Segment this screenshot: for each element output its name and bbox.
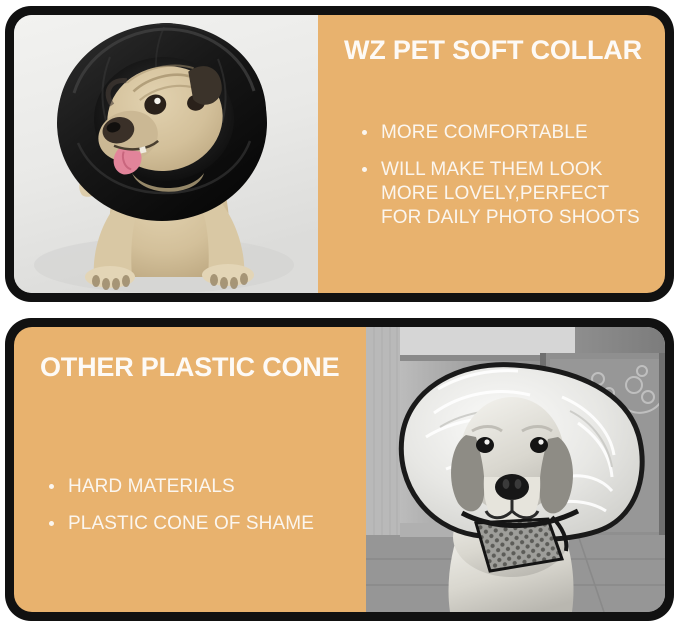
photo-pug-soft-collar bbox=[14, 15, 318, 293]
list-item: MORE COMFORTABLE bbox=[362, 121, 662, 145]
list-item-label: MORE COMFORTABLE bbox=[381, 121, 662, 145]
comparison-infographic: WZ PET SOFT COLLAR MORE COMFORTABLE WILL… bbox=[0, 0, 679, 627]
feature-list-top: MORE COMFORTABLE WILL MAKE THEM LOOK MOR… bbox=[362, 121, 662, 230]
panel-wz-pet-soft-collar: WZ PET SOFT COLLAR MORE COMFORTABLE WILL… bbox=[5, 6, 674, 302]
list-item-label: WILL MAKE THEM LOOK MORE LOVELY,PERFECT … bbox=[381, 158, 662, 230]
bullet-dot-icon bbox=[362, 130, 367, 135]
panel-title-bottom: OTHER PLASTIC CONE bbox=[40, 352, 339, 383]
panel-inner: WZ PET SOFT COLLAR MORE COMFORTABLE WILL… bbox=[14, 15, 665, 293]
pug-photo-illustration bbox=[14, 15, 318, 293]
list-item: HARD MATERIALS bbox=[49, 475, 339, 499]
panel-other-plastic-cone: OTHER PLASTIC CONE HARD MATERIALS PLASTI… bbox=[5, 318, 674, 621]
feature-list-bottom: HARD MATERIALS PLASTIC CONE OF SHAME bbox=[49, 475, 339, 536]
bullet-dot-icon bbox=[49, 484, 54, 489]
list-item-label: PLASTIC CONE OF SHAME bbox=[68, 512, 339, 536]
list-item: PLASTIC CONE OF SHAME bbox=[49, 512, 339, 536]
text-block-other-plastic-cone: OTHER PLASTIC CONE HARD MATERIALS PLASTI… bbox=[14, 327, 366, 612]
panel-title-top: WZ PET SOFT COLLAR bbox=[344, 35, 642, 66]
text-block-wz-pet-soft-collar: WZ PET SOFT COLLAR MORE COMFORTABLE WILL… bbox=[318, 15, 665, 293]
bullet-dot-icon bbox=[49, 521, 54, 526]
photo-labrador-plastic-cone bbox=[366, 327, 665, 612]
panel-inner: OTHER PLASTIC CONE HARD MATERIALS PLASTI… bbox=[14, 327, 665, 612]
bullet-dot-icon bbox=[362, 167, 367, 172]
list-item-label: HARD MATERIALS bbox=[68, 475, 339, 499]
labrador-photo-illustration bbox=[366, 327, 665, 612]
list-item: WILL MAKE THEM LOOK MORE LOVELY,PERFECT … bbox=[362, 158, 662, 230]
